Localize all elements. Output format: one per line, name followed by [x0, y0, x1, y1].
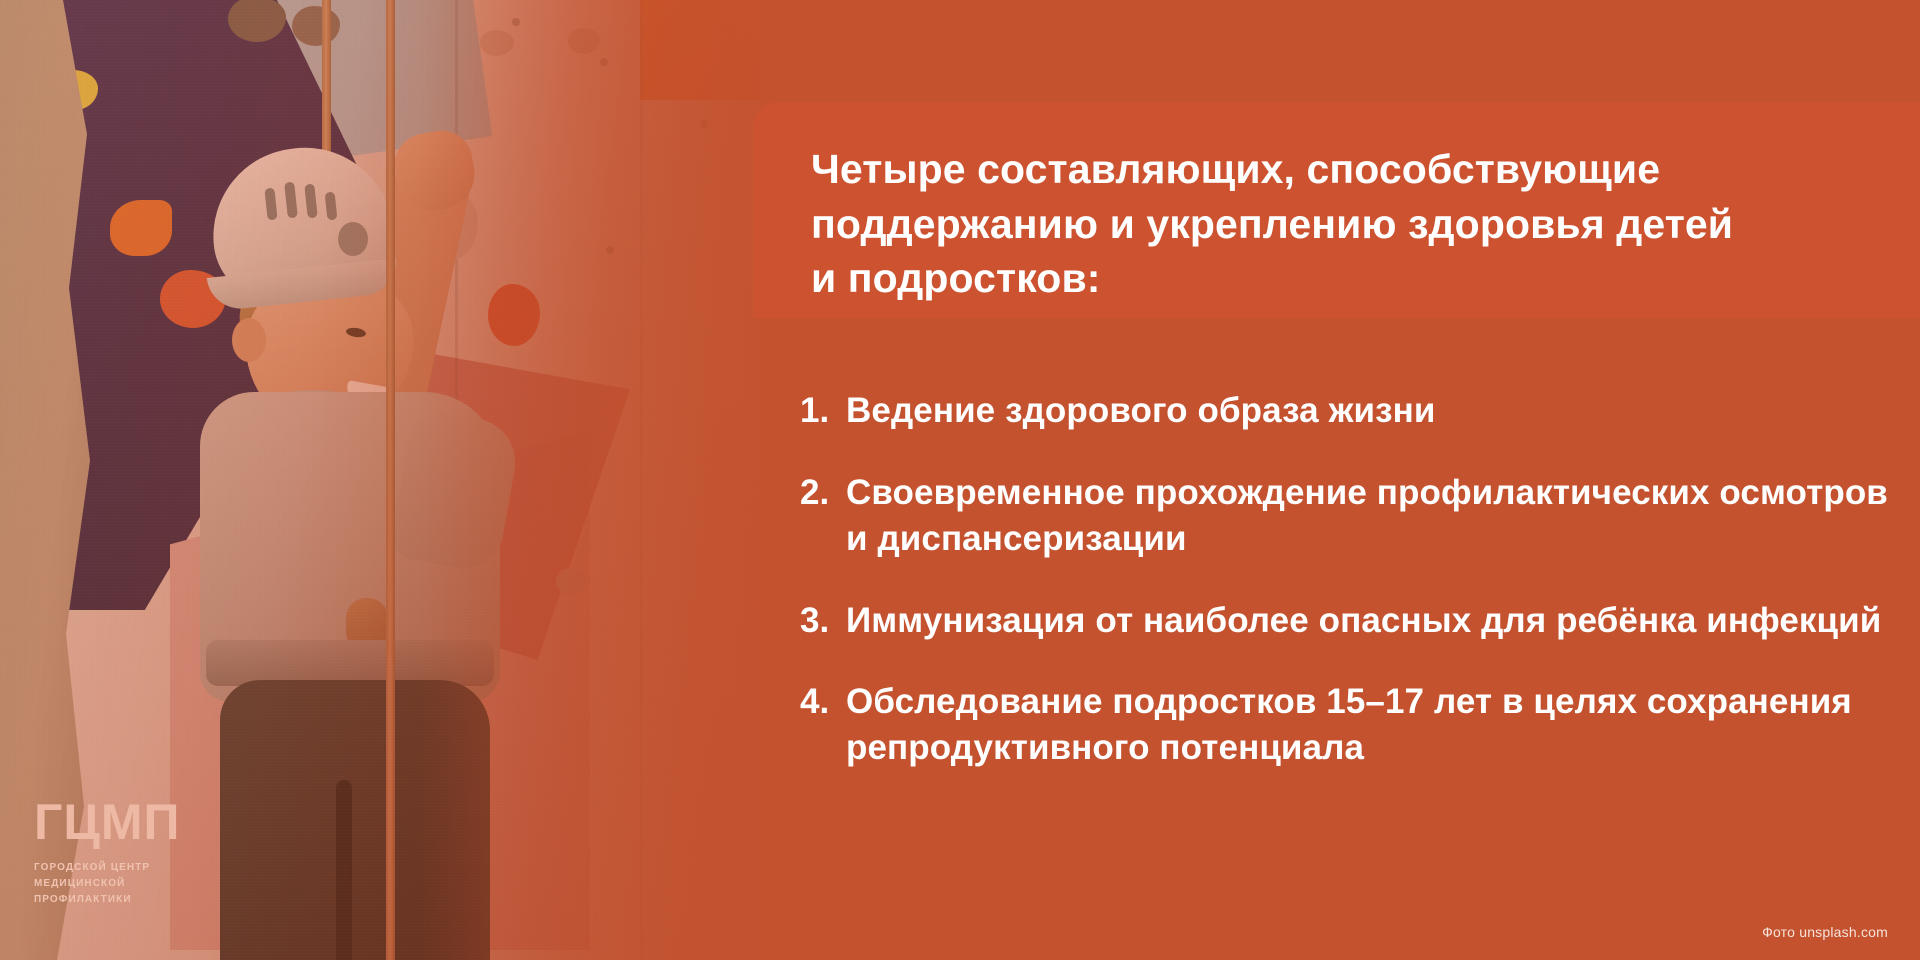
- photo-credit: Фото unsplash.com: [1762, 924, 1888, 940]
- list-item: 3. Иммунизация от наиболее опасных для р…: [800, 598, 1890, 644]
- list-item-number: 1.: [800, 388, 846, 434]
- heading-panel: Четыре составляющих, способствующие подд…: [753, 102, 1920, 318]
- slide-root: Четыре составляющих, способствующие подд…: [0, 0, 1920, 960]
- page-title: Четыре составляющих, способствующие подд…: [811, 142, 1868, 306]
- components-list: 1. Ведение здорового образа жизни 2. Сво…: [800, 388, 1890, 771]
- logo-wordmark: ГЦМП: [34, 797, 294, 847]
- list-item-label: Обследование подростков 15–17 лет в целя…: [846, 679, 1890, 771]
- list-item-number: 2.: [800, 470, 846, 516]
- list-item: 1. Ведение здорового образа жизни: [800, 388, 1890, 434]
- list-item: 4. Обследование подростков 15–17 лет в ц…: [800, 679, 1890, 771]
- list-item-number: 4.: [800, 679, 846, 725]
- list-item-label: Ведение здорового образа жизни: [846, 388, 1435, 434]
- list-item-label: Своевременное прохождение профилактическ…: [846, 470, 1890, 562]
- list-item: 2. Своевременное прохождение профилактич…: [800, 470, 1890, 562]
- gcmp-logo: ГЦМП ГОРОДСКОЙ ЦЕНТР МЕДИЦИНСКОЙ ПРОФИЛА…: [34, 797, 294, 908]
- photo-fade-to-orange: [420, 0, 800, 960]
- logo-subtitle: ГОРОДСКОЙ ЦЕНТР МЕДИЦИНСКОЙ ПРОФИЛАКТИКИ: [34, 860, 294, 908]
- list-item-label: Иммунизация от наиболее опасных для ребё…: [846, 598, 1881, 644]
- list-item-number: 3.: [800, 598, 846, 644]
